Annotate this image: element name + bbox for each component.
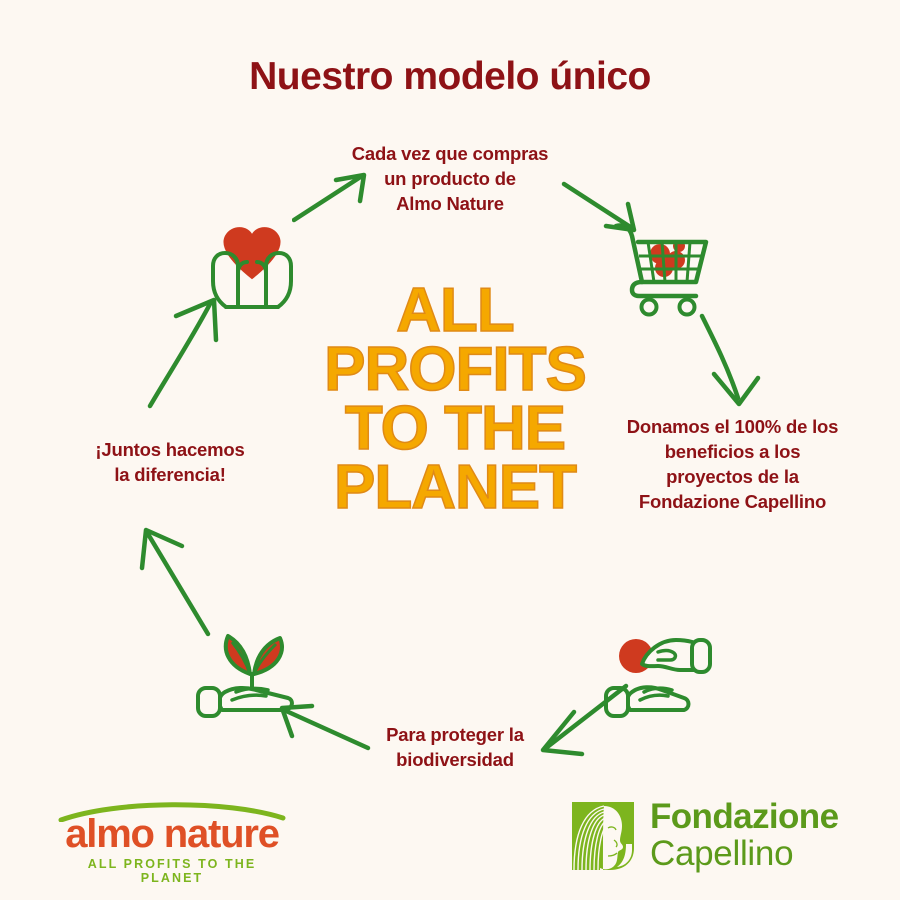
arrow-to-juntos-caption-icon: [134, 524, 230, 640]
arrow-to-biodiversity-caption-icon: [534, 682, 634, 760]
headline-line-4: PLANET: [305, 459, 605, 518]
arrow-to-heart-icon: [136, 294, 230, 412]
almo-nature-logo: almo nature ALL PROFITS TO THE PLANET: [57, 798, 347, 878]
page-title: Nuestro modelo único: [0, 55, 900, 99]
almo-nature-tagline: ALL PROFITS TO THE PLANET: [57, 857, 287, 885]
arrow-to-cart-icon: [560, 178, 640, 236]
caption-left-line-2: la diferencia!: [50, 463, 290, 488]
caption-top-line-1: Cada vez que compras: [300, 142, 600, 167]
fondazione-capellino-logo: Fondazione Capellino: [570, 798, 870, 878]
headline-line-1: ALL: [305, 282, 605, 341]
caption-right-line-3: proyectos de la: [600, 465, 865, 490]
infographic-canvas: Nuestro modelo único ALL PROFITS TO THE …: [0, 0, 900, 900]
caption-right-line-2: beneficios a los: [600, 440, 865, 465]
arrow-to-donation-step-icon: [694, 312, 784, 412]
fc-wordmark-line-2: Capellino: [650, 835, 838, 872]
caption-step-right: Donamos el 100% de los beneficios a los …: [600, 415, 865, 515]
fc-wordmark-line-1: Fondazione: [650, 798, 838, 835]
arrow-to-sprout-icon: [276, 696, 372, 758]
caption-right-line-4: Fondazione Capellino: [600, 490, 865, 515]
caption-step-left: ¡Juntos hacemos la diferencia!: [50, 438, 290, 488]
fondazione-capellino-wordmark: Fondazione Capellino: [650, 798, 838, 872]
caption-left-line-1: ¡Juntos hacemos: [50, 438, 290, 463]
arrow-to-top-step-icon: [292, 168, 372, 226]
center-headline: ALL PROFITS TO THE PLANET: [305, 282, 605, 518]
headline-line-2: PROFITS: [305, 341, 605, 400]
headline-line-3: TO THE: [305, 400, 605, 459]
almo-nature-wordmark: almo nature: [57, 812, 287, 857]
caption-right-line-1: Donamos el 100% de los: [600, 415, 865, 440]
fondazione-capellino-mark-icon: [570, 800, 636, 872]
